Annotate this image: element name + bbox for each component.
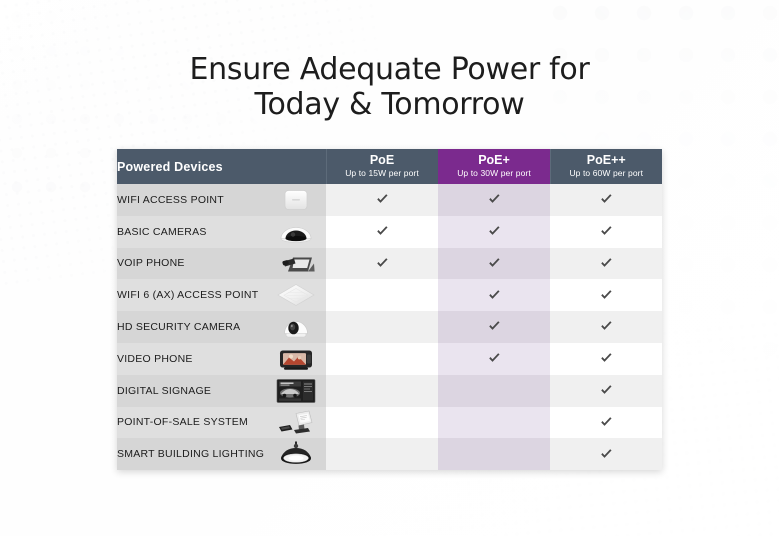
pos-terminal-icon <box>274 409 318 436</box>
support-cell-poe-plus <box>438 438 550 470</box>
device-label-cell: BASIC CAMERAS <box>117 216 326 248</box>
checkmark-icon <box>487 288 502 303</box>
checkmark-icon <box>599 383 614 398</box>
device-label-cell: SMART BUILDING LIGHTING <box>117 438 326 470</box>
device-label-cell: VIDEO PHONE <box>117 343 326 375</box>
device-label: DIGITAL SIGNAGE <box>117 385 211 397</box>
device-label-cell: HD SECURITY CAMERA <box>117 311 326 343</box>
support-cell-poe <box>326 279 438 311</box>
support-cell-poe <box>326 407 438 439</box>
support-cell-poe-plus <box>438 184 550 216</box>
checkmark-icon <box>487 351 502 366</box>
checkmark-icon <box>375 224 390 239</box>
dome-camera-icon <box>274 218 318 245</box>
checkmark-icon <box>487 224 502 239</box>
table-row: HD SECURITY CAMERA <box>117 311 662 343</box>
checkmark-icon <box>599 447 614 462</box>
checkmark-icon <box>487 192 502 207</box>
device-label: VOIP PHONE <box>117 257 185 269</box>
support-cell-poe-plus <box>438 407 550 439</box>
wifi-access-point-icon <box>274 186 318 213</box>
device-label: WIFI ACCESS POINT <box>117 194 224 206</box>
support-cell-poe-plus-plus <box>550 279 662 311</box>
support-cell-poe-plus <box>438 343 550 375</box>
wifi6-access-point-icon <box>274 282 318 309</box>
device-label-cell: POINT-OF-SALE SYSTEM <box>117 407 326 439</box>
table-row: WIFI ACCESS POINT <box>117 184 662 216</box>
tier-header-poe: PoE Up to 15W per port <box>326 149 438 184</box>
device-label-cell: DIGITAL SIGNAGE <box>117 375 326 407</box>
support-cell-poe-plus <box>438 248 550 280</box>
support-cell-poe <box>326 438 438 470</box>
support-cell-poe-plus-plus <box>550 438 662 470</box>
table-body: WIFI ACCESS POINTBASIC CAMERASVOIP PHONE… <box>117 184 662 470</box>
device-label: POINT-OF-SALE SYSTEM <box>117 416 248 428</box>
support-cell-poe-plus <box>438 311 550 343</box>
high-bay-light-icon <box>274 441 318 468</box>
support-cell-poe <box>326 375 438 407</box>
table-row: WIFI 6 (AX) ACCESS POINT <box>117 279 662 311</box>
page-title-line-2: Today & Tomorrow <box>0 87 779 122</box>
poe-comparison-table: Powered Devices PoE Up to 15W per port P… <box>117 149 662 470</box>
support-cell-poe-plus-plus <box>550 375 662 407</box>
tier-header-poe-plus: PoE+ Up to 30W per port <box>438 149 550 184</box>
tier-sub-poe-plus-plus: Up to 60W per port <box>551 168 663 179</box>
tier-sub-poe-plus: Up to 30W per port <box>439 168 550 179</box>
checkmark-icon <box>599 192 614 207</box>
table-row: POINT-OF-SALE SYSTEM <box>117 407 662 439</box>
checkmark-icon <box>599 288 614 303</box>
checkmark-icon <box>599 224 614 239</box>
support-cell-poe <box>326 248 438 280</box>
device-column-header: Powered Devices <box>117 149 326 184</box>
support-cell-poe <box>326 184 438 216</box>
video-phone-icon <box>274 345 318 372</box>
support-cell-poe-plus-plus <box>550 248 662 280</box>
tier-sub-poe: Up to 15W per port <box>327 168 438 179</box>
device-label: VIDEO PHONE <box>117 353 193 365</box>
checkmark-icon <box>599 256 614 271</box>
page-title-line-1: Ensure Adequate Power for <box>0 52 779 87</box>
support-cell-poe-plus-plus <box>550 216 662 248</box>
device-label: SMART BUILDING LIGHTING <box>117 448 264 460</box>
device-label: BASIC CAMERAS <box>117 226 207 238</box>
checkmark-icon <box>375 192 390 207</box>
support-cell-poe <box>326 216 438 248</box>
support-cell-poe-plus <box>438 216 550 248</box>
support-cell-poe-plus-plus <box>550 184 662 216</box>
support-cell-poe <box>326 311 438 343</box>
checkmark-icon <box>599 319 614 334</box>
tier-name-poe: PoE <box>327 154 438 167</box>
device-label-cell: WIFI ACCESS POINT <box>117 184 326 216</box>
device-label-cell: VOIP PHONE <box>117 248 326 280</box>
page-title: Ensure Adequate Power for Today & Tomorr… <box>0 0 779 122</box>
device-label: HD SECURITY CAMERA <box>117 321 240 333</box>
turret-camera-icon <box>274 314 318 341</box>
support-cell-poe <box>326 343 438 375</box>
table-header-row: Powered Devices PoE Up to 15W per port P… <box>117 149 662 184</box>
support-cell-poe-plus <box>438 279 550 311</box>
support-cell-poe-plus <box>438 375 550 407</box>
checkmark-icon <box>599 351 614 366</box>
table-row: VIDEO PHONE <box>117 343 662 375</box>
digital-signage-icon <box>274 377 318 404</box>
support-cell-poe-plus-plus <box>550 343 662 375</box>
checkmark-icon <box>599 415 614 430</box>
table-row: DIGITAL SIGNAGE <box>117 375 662 407</box>
tier-name-poe-plus: PoE+ <box>439 154 550 167</box>
tier-header-poe-plus-plus: PoE++ Up to 60W per port <box>550 149 662 184</box>
checkmark-icon <box>375 256 390 271</box>
device-label: WIFI 6 (AX) ACCESS POINT <box>117 289 258 301</box>
table-row: VOIP PHONE <box>117 248 662 280</box>
support-cell-poe-plus-plus <box>550 311 662 343</box>
checkmark-icon <box>487 256 502 271</box>
tier-name-poe-plus-plus: PoE++ <box>551 154 663 167</box>
device-label-cell: WIFI 6 (AX) ACCESS POINT <box>117 279 326 311</box>
table-row: BASIC CAMERAS <box>117 216 662 248</box>
voip-desk-phone-icon <box>274 250 318 277</box>
support-cell-poe-plus-plus <box>550 407 662 439</box>
table-row: SMART BUILDING LIGHTING <box>117 438 662 470</box>
checkmark-icon <box>487 319 502 334</box>
